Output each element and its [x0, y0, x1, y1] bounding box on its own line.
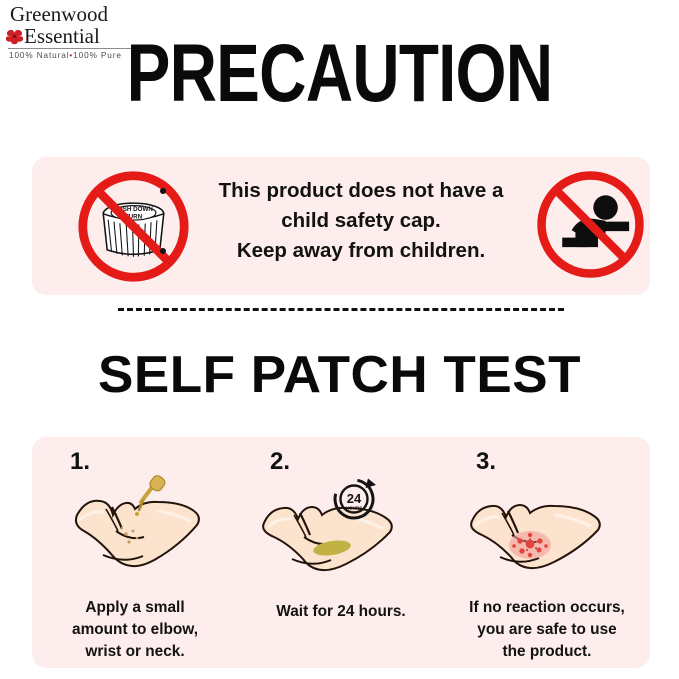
step-caption-3: If no reaction occurs, you are safe to u…: [448, 597, 646, 663]
bullet-icon: [160, 188, 166, 194]
caption-line: wrist or neck.: [36, 641, 234, 663]
flower-icon: [6, 28, 23, 45]
tagline-left: 100% Natural: [9, 51, 69, 60]
warning-text-3: Keep away from children.: [237, 239, 485, 262]
no-child-safety-cap-icon: PUSH DOWN TURN: [75, 168, 192, 285]
warning-line-2: child safety cap.: [196, 206, 526, 236]
precaution-infographic: Greenwood Essential: [0, 0, 679, 679]
caption-line: the product.: [448, 641, 646, 663]
caption-line: If no reaction occurs,: [448, 597, 646, 619]
section-divider: [118, 308, 564, 311]
patch-test-step-2: 2. 24 HOURS: [238, 437, 444, 668]
step-caption-2: Wait for 24 hours.: [242, 601, 440, 623]
elbow-with-24-hours-badge-icon: 24 HOURS: [246, 471, 436, 573]
warning-text-2: child safety cap.: [281, 209, 441, 232]
no-children-icon: [534, 168, 647, 281]
warning-text-1: This product does not have a: [219, 179, 504, 202]
step-caption-1: Apply a small amount to elbow, wrist or …: [36, 597, 234, 663]
brand-name-line-1: Greenwood: [4, 4, 136, 25]
patch-test-step-3: 3.: [444, 437, 650, 668]
bullet-icon: [160, 248, 166, 254]
badge-value-24: 24: [347, 491, 362, 506]
page-title-self-patch-test: SELF PATCH TEST: [0, 347, 679, 403]
caption-line: you are safe to use: [448, 619, 646, 641]
warning-line-1: This product does not have a: [196, 176, 526, 206]
patch-test-step-1: 1.: [32, 437, 238, 668]
caption-line: Apply a small: [36, 597, 234, 619]
caption-line: amount to elbow,: [36, 619, 234, 641]
warning-line-3: Keep away from children.: [196, 236, 526, 266]
elbow-with-dropper-icon: [40, 471, 230, 573]
caption-line: Wait for 24 hours.: [242, 601, 440, 623]
elbow-with-rash-icon: [452, 471, 642, 573]
precaution-warning-text: This product does not have a child safet…: [196, 176, 526, 266]
page-title-precaution: PRECAUTION: [68, 33, 611, 115]
badge-unit-hours: HOURS: [346, 506, 363, 511]
